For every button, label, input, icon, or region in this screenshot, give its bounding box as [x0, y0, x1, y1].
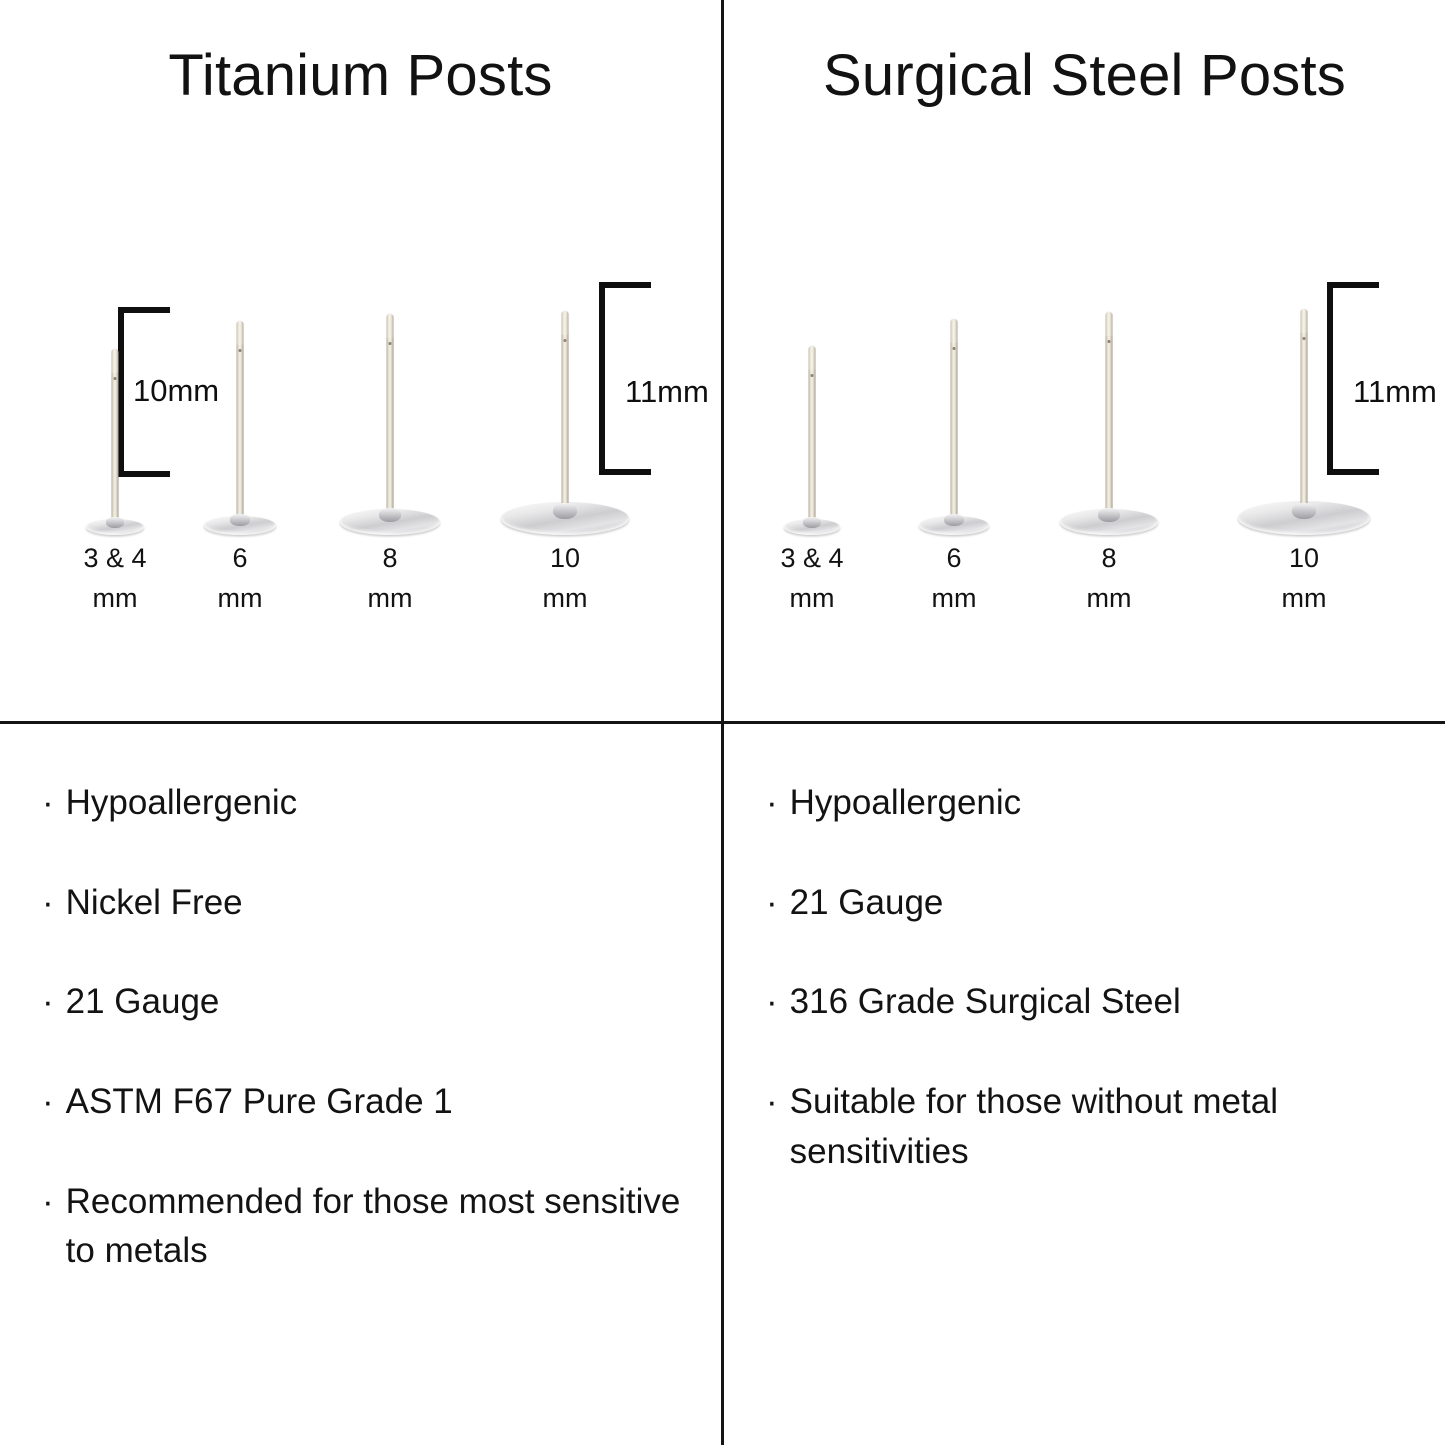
- earring-post-comparison-chart: Titanium Posts Surgical Steel Posts: [0, 0, 1445, 1445]
- feature-text: Hypoallergenic: [790, 778, 1426, 828]
- post-pin: [387, 314, 394, 516]
- feature-item: · 21 Gauge: [42, 977, 682, 1027]
- bullet-icon: ·: [766, 878, 778, 928]
- post-illustration-3-4mm: [772, 297, 852, 535]
- bracket-arm-top: [599, 282, 651, 288]
- post-joint: [379, 508, 401, 522]
- post-pin: [809, 346, 816, 524]
- surgical-steel-feature-list: · Hypoallergenic · 21 Gauge · 316 Grade …: [766, 778, 1426, 1226]
- size-value: 6: [946, 543, 961, 573]
- feature-text: Nickel Free: [66, 878, 682, 928]
- post-pin: [112, 349, 119, 524]
- bracket-arm-bottom: [118, 471, 170, 477]
- post-joint: [944, 514, 964, 526]
- size-caption: 8 mm: [330, 538, 450, 618]
- bullet-icon: ·: [42, 1077, 54, 1127]
- feature-item: · Hypoallergenic: [766, 778, 1426, 828]
- bracket-arm-top: [118, 307, 170, 313]
- post-pin: [951, 319, 958, 521]
- bracket-arm-bottom: [599, 469, 651, 475]
- size-unit: mm: [1244, 578, 1364, 618]
- titanium-size-captions: 3 & 4 mm 6 mm 8 mm 10 mm: [0, 538, 721, 628]
- bullet-icon: ·: [42, 778, 54, 828]
- size-value: 10: [550, 543, 580, 573]
- post-pin: [1301, 309, 1308, 511]
- titanium-feature-list: · Hypoallergenic · Nickel Free · 21 Gaug…: [42, 778, 682, 1326]
- bullet-icon: ·: [766, 1077, 778, 1127]
- size-caption: 3 & 4 mm: [55, 538, 175, 618]
- bullet-icon: ·: [42, 1177, 54, 1227]
- size-caption: 3 & 4 mm: [752, 538, 872, 618]
- post-joint: [803, 517, 821, 528]
- size-value: 6: [232, 543, 247, 573]
- bracket-stem: [599, 282, 605, 475]
- post-joint: [1292, 503, 1316, 519]
- feature-text: Suitable for those without metal sensiti…: [790, 1077, 1426, 1176]
- size-unit: mm: [1049, 578, 1169, 618]
- size-unit: mm: [505, 578, 625, 618]
- size-caption: 6 mm: [180, 538, 300, 618]
- panel-title-titanium: Titanium Posts: [0, 42, 721, 109]
- feature-item: · Nickel Free: [42, 878, 682, 928]
- post-pin: [1106, 312, 1113, 516]
- bracket-stem: [1327, 282, 1333, 475]
- post-illustration-8mm: [335, 283, 445, 535]
- size-caption: 6 mm: [894, 538, 1014, 618]
- feature-item: · 21 Gauge: [766, 878, 1426, 928]
- size-unit: mm: [180, 578, 300, 618]
- bullet-icon: ·: [42, 878, 54, 928]
- post-illustration-6mm: [909, 288, 999, 535]
- feature-item: · ASTM F67 Pure Grade 1: [42, 1077, 682, 1127]
- feature-text: Hypoallergenic: [66, 778, 682, 828]
- panel-title-surgical-steel: Surgical Steel Posts: [724, 42, 1445, 109]
- post-joint: [106, 517, 124, 528]
- size-value: 3 & 4: [780, 543, 843, 573]
- size-value: 8: [382, 543, 397, 573]
- post-illustration-6mm: [195, 290, 285, 535]
- feature-text: 21 Gauge: [66, 977, 682, 1027]
- feature-item: · 316 Grade Surgical Steel: [766, 977, 1426, 1027]
- measurement-label-11mm-right: 11mm: [1353, 374, 1437, 410]
- post-illustration-8mm: [1054, 281, 1164, 535]
- feature-text: ASTM F67 Pure Grade 1: [66, 1077, 682, 1127]
- size-caption: 8 mm: [1049, 538, 1169, 618]
- size-value: 3 & 4: [83, 543, 146, 573]
- size-unit: mm: [752, 578, 872, 618]
- size-caption: 10 mm: [505, 538, 625, 618]
- size-unit: mm: [55, 578, 175, 618]
- feature-item: · Suitable for those without metal sensi…: [766, 1077, 1426, 1176]
- size-unit: mm: [894, 578, 1014, 618]
- bracket-arm-top: [1327, 282, 1379, 288]
- horizontal-divider: [0, 721, 1445, 724]
- post-joint: [230, 514, 250, 526]
- post-joint: [553, 503, 577, 519]
- feature-text: Recommended for those most sensitive to …: [66, 1177, 682, 1276]
- bullet-icon: ·: [766, 977, 778, 1027]
- measurement-label-10mm: 10mm: [133, 373, 219, 409]
- feature-text: 316 Grade Surgical Steel: [790, 977, 1426, 1027]
- post-joint: [1098, 508, 1120, 522]
- size-value: 8: [1101, 543, 1116, 573]
- bullet-icon: ·: [766, 778, 778, 828]
- feature-item: · Recommended for those most sensitive t…: [42, 1177, 682, 1276]
- feature-text: 21 Gauge: [790, 878, 1426, 928]
- surgical-steel-size-captions: 3 & 4 mm 6 mm 8 mm 10 mm: [724, 538, 1445, 628]
- bracket-stem: [118, 307, 124, 477]
- measurement-label-11mm-left: 11mm: [625, 374, 709, 410]
- post-pin: [237, 321, 244, 521]
- bracket-arm-bottom: [1327, 469, 1379, 475]
- size-caption: 10 mm: [1244, 538, 1364, 618]
- bullet-icon: ·: [42, 977, 54, 1027]
- post-pin: [562, 311, 569, 511]
- size-value: 10: [1289, 543, 1319, 573]
- feature-item: · Hypoallergenic: [42, 778, 682, 828]
- size-unit: mm: [330, 578, 450, 618]
